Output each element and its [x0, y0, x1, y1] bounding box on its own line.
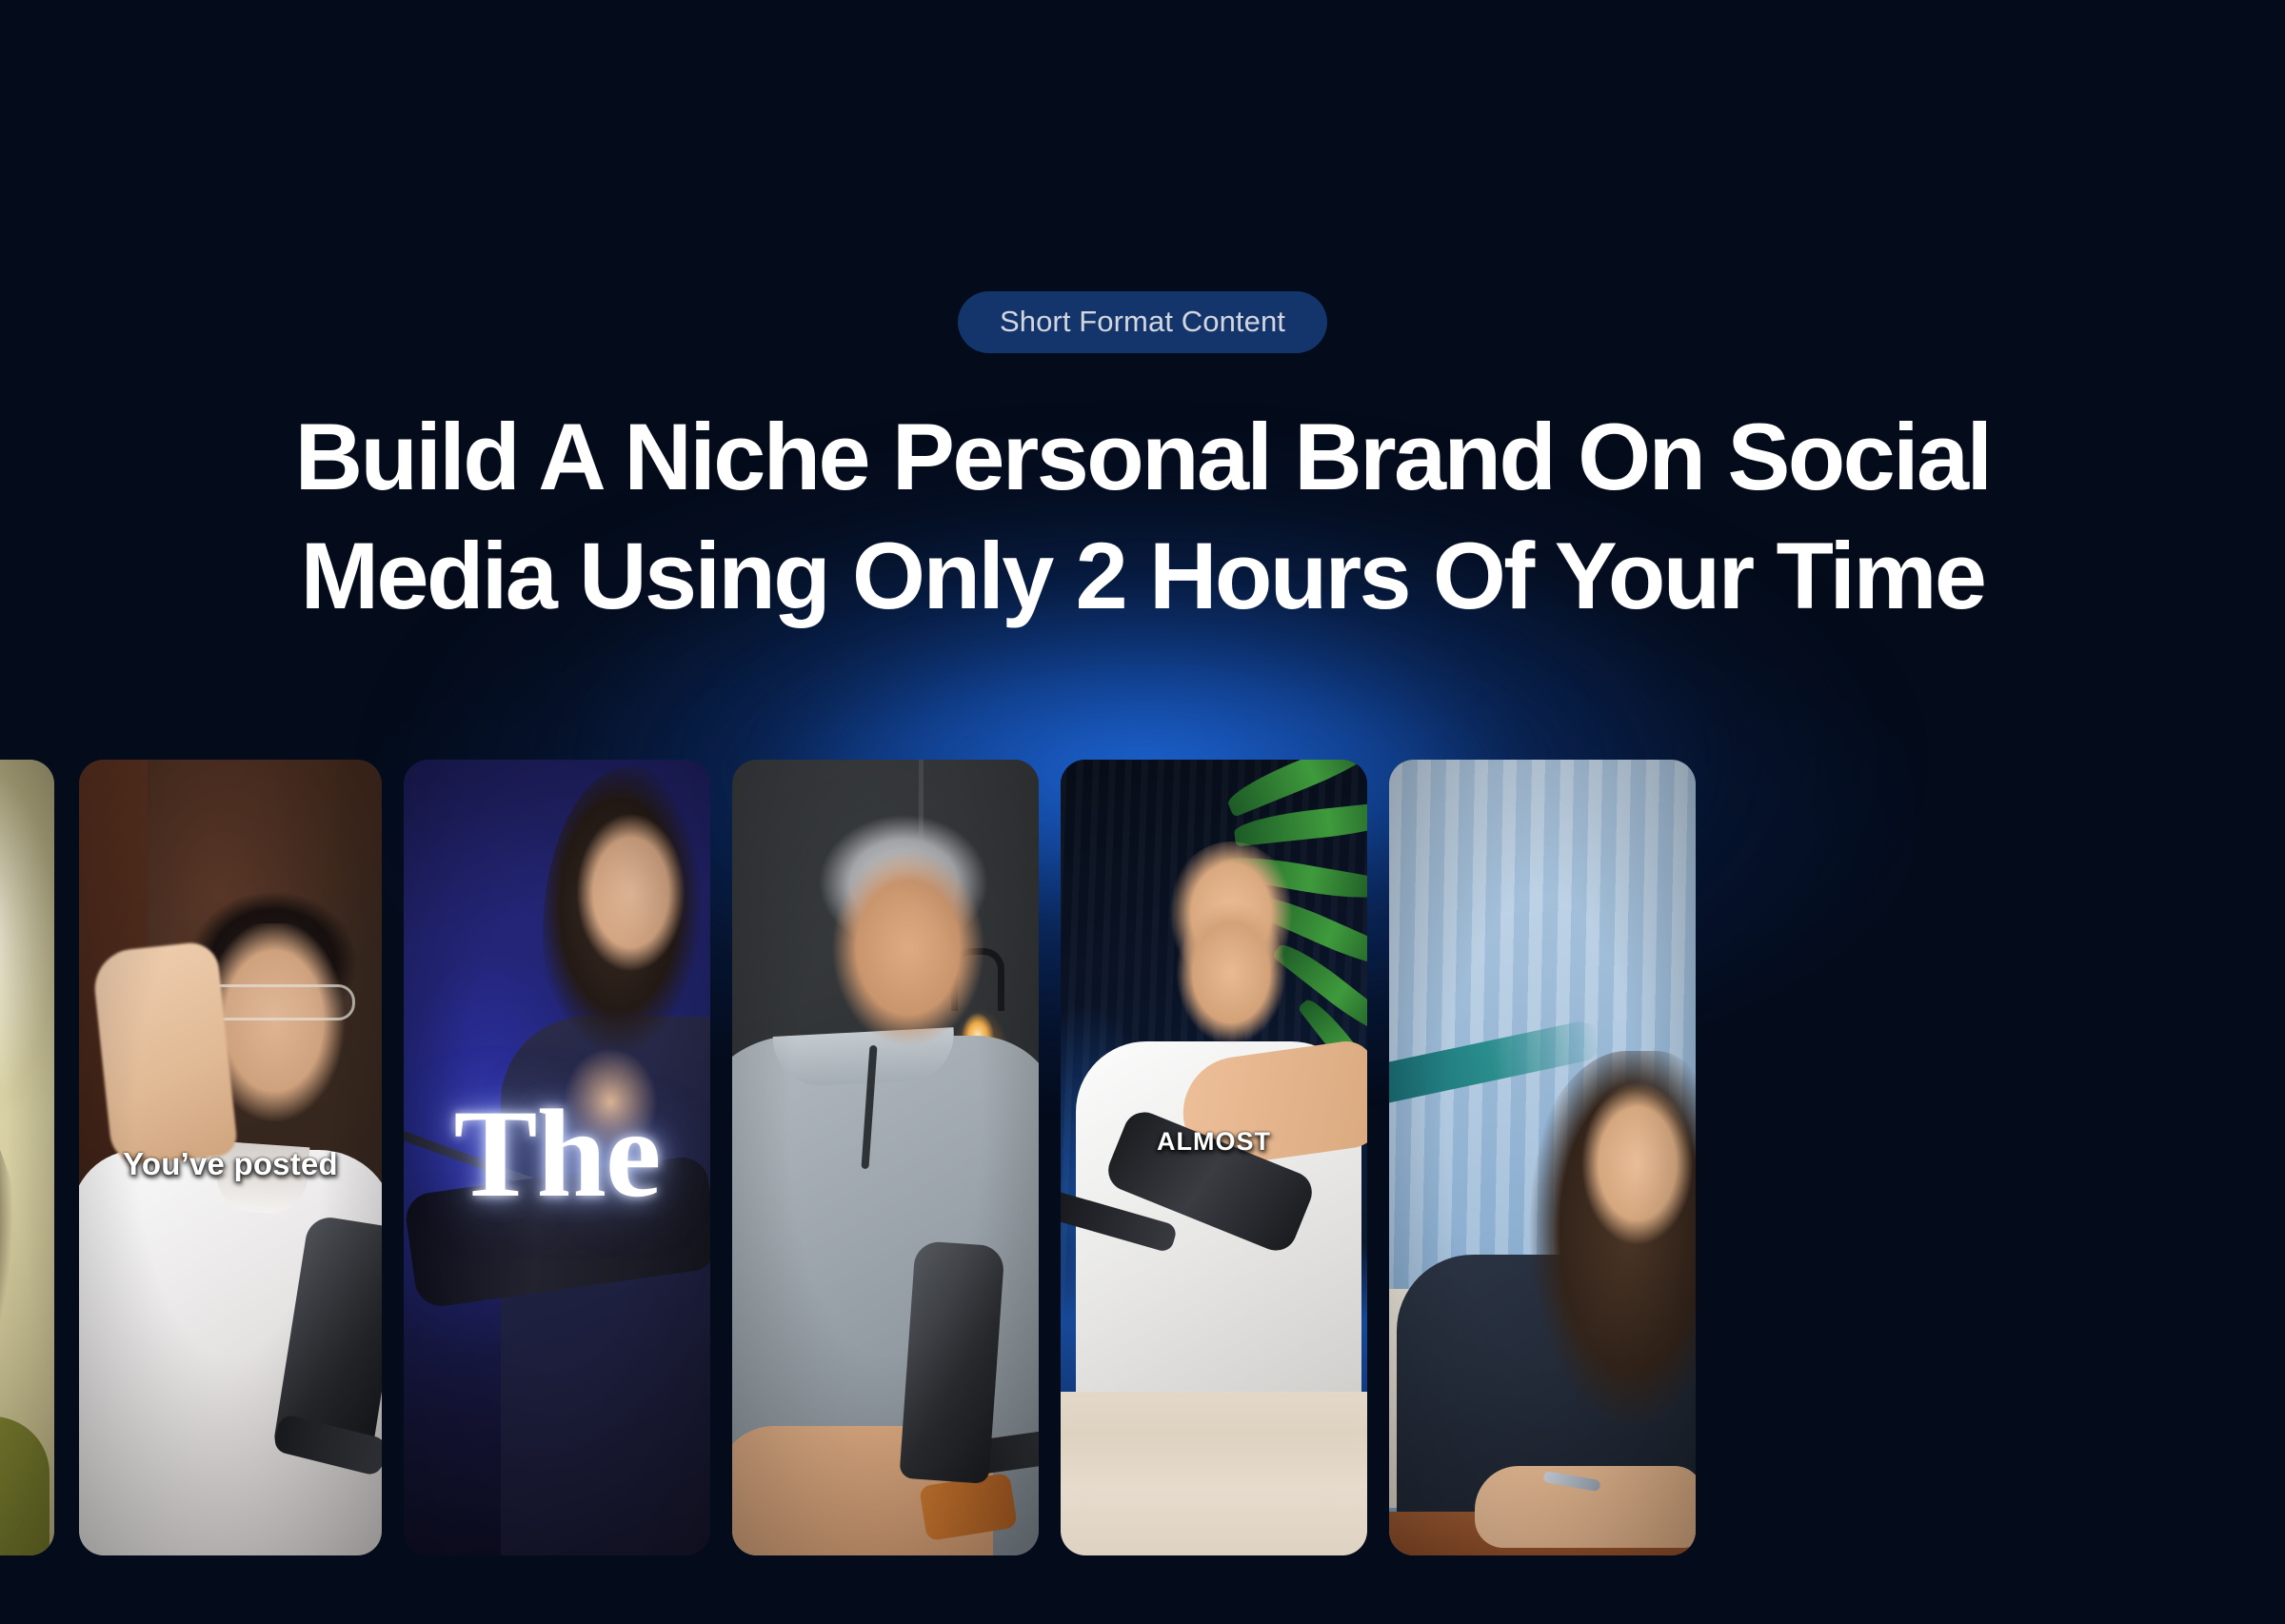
- card-3-caption: The: [404, 1091, 710, 1217]
- hero-section: Short Format Content Build A Niche Perso…: [0, 0, 2285, 1624]
- card-5-desk: [1061, 1392, 1367, 1555]
- video-card-6[interactable]: [1389, 760, 1696, 1555]
- video-card-1[interactable]: [0, 760, 54, 1555]
- page-title: Build A Niche Personal Brand On Social M…: [0, 398, 2285, 635]
- card-6-vignette: [1389, 760, 1696, 1555]
- video-card-2[interactable]: You’ve posted: [79, 760, 382, 1555]
- page-title-line-2: Media Using Only 2 Hours Of Your Time: [0, 517, 2285, 636]
- page-title-line-1: Build A Niche Personal Brand On Social: [0, 398, 2285, 517]
- card-2-caption: You’ve posted: [79, 1148, 382, 1179]
- card-1-vignette: [0, 760, 54, 1555]
- badge-container: Short Format Content: [0, 291, 2285, 353]
- video-card-4[interactable]: [732, 760, 1039, 1555]
- card-5-caption: ALMOST: [1061, 1129, 1367, 1155]
- video-carousel[interactable]: You’ve posted The: [0, 760, 2285, 1559]
- video-card-3[interactable]: The: [404, 760, 710, 1555]
- category-badge[interactable]: Short Format Content: [958, 291, 1327, 353]
- video-card-5[interactable]: ALMOST: [1061, 760, 1367, 1555]
- card-4-vignette: [732, 760, 1039, 1555]
